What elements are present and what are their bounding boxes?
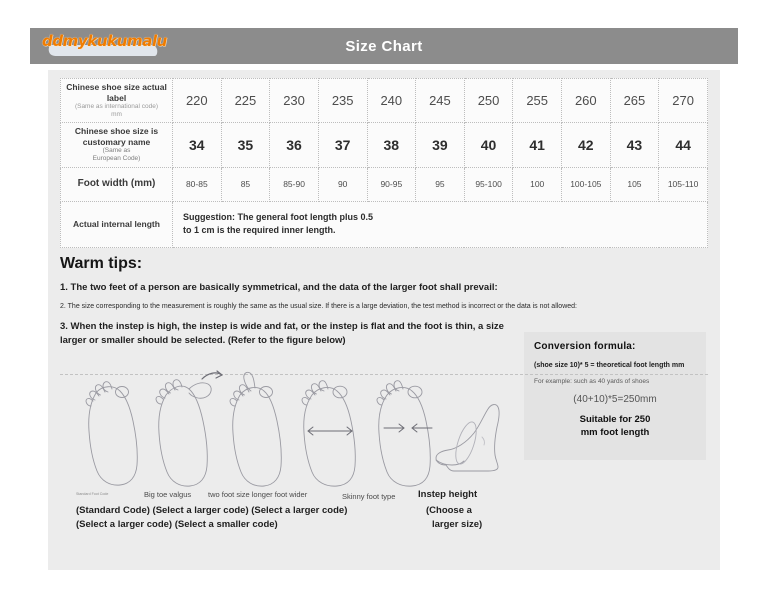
table-cell: 255 — [513, 79, 562, 123]
page-header: ddmykukumalu Size Chart — [30, 28, 738, 64]
table-cell: 225 — [221, 79, 270, 123]
caption-instep-sub-2: larger size) — [432, 518, 482, 532]
table-cell: 245 — [416, 79, 465, 123]
table-cell: 260 — [562, 79, 611, 123]
table-cell: 220 — [173, 79, 222, 123]
table-cell: 39 — [416, 123, 465, 168]
tip-item-1: 1. The two feet of a person are basicall… — [60, 281, 708, 294]
row-label-internal-length: Actual internal length — [61, 201, 173, 247]
suggestion-line-1: Suggestion: The general foot length plus… — [183, 212, 373, 222]
table-cell: 240 — [367, 79, 416, 123]
formula-result-line-1: Suitable for 250 — [580, 414, 651, 425]
table-cell: 43 — [610, 123, 659, 168]
table-cell: 265 — [610, 79, 659, 123]
caption-codes-line-1: (Standard Code) (Select a larger code) (… — [76, 504, 347, 518]
size-chart-page: ddmykukumalu Size Chart Chinese shoe siz… — [0, 0, 768, 598]
table-row-european-code: Chinese shoe size is customary name (Sam… — [61, 123, 708, 168]
foot-outline-big-toe-valgus — [156, 371, 222, 486]
row-label-main: Chinese shoe size is customary name — [75, 126, 158, 147]
row-label-actual-size: Chinese shoe size actual label (Same as … — [61, 79, 173, 123]
formula-equation: (shoe size 10)* 5 = theoretical foot len… — [534, 362, 696, 369]
row-label-sub: (Same as — [65, 147, 168, 155]
formula-heading: Conversion formula: — [534, 340, 696, 354]
formula-result-line-2: mm foot length — [581, 427, 650, 438]
suggestion-line-2: to 1 cm is the required inner length. — [183, 225, 336, 235]
caption-standard-foot-code: Standard Foot Code — [76, 492, 108, 496]
table-cell: 41 — [513, 123, 562, 168]
table-cell: 34 — [173, 123, 222, 168]
brand-logo: ddmykukumalu — [38, 29, 168, 59]
table-cell: 90-95 — [367, 167, 416, 201]
table-cell: 230 — [270, 79, 319, 123]
table-cell: 40 — [464, 123, 513, 168]
tip-item-3: 3. When the instep is high, the instep i… — [60, 320, 515, 348]
foot-illustrations-svg — [84, 365, 504, 505]
caption-big-toe-valgus: Big toe valgus — [144, 490, 191, 499]
foot-side-view-instep — [436, 405, 499, 471]
row-label-main: Chinese shoe size actual label — [66, 82, 167, 103]
table-cell: 270 — [659, 79, 708, 123]
table-cell: 100 — [513, 167, 562, 201]
row-label-sub2: European Code) — [65, 155, 168, 163]
table-cell: 250 — [464, 79, 513, 123]
caption-instep-sub-1: (Choose a — [426, 504, 472, 518]
table-cell: 38 — [367, 123, 416, 168]
diagram-captions: Standard Foot Code Big toe valgus two fo… — [60, 490, 708, 560]
formula-result: Suitable for 250 mm foot length — [534, 413, 696, 440]
row-label-customary-name: Chinese shoe size is customary name (Sam… — [61, 123, 173, 168]
row-label-foot-width: Foot width (mm) — [61, 167, 173, 201]
content-panel: Chinese shoe size actual label (Same as … — [48, 70, 720, 570]
table-cell: 36 — [270, 123, 319, 168]
table-cell: 44 — [659, 123, 708, 168]
table-cell: 80-85 — [173, 167, 222, 201]
logo-text: ddmykukumalu — [42, 32, 167, 50]
conversion-formula-box: Conversion formula: (shoe size 10)* 5 = … — [524, 332, 706, 460]
caption-codes-line-2: (Select a larger code) (Select a smaller… — [76, 518, 278, 532]
table-cell: 235 — [318, 79, 367, 123]
table-row-foot-width: Foot width (mm) 80-85 85 85-90 90 90-95 … — [61, 167, 708, 201]
table-cell: 95-100 — [464, 167, 513, 201]
table-cell: 35 — [221, 123, 270, 168]
table-cell: 85 — [221, 167, 270, 201]
table-cell: 90 — [318, 167, 367, 201]
formula-calculation: (40+10)*5=250mm — [534, 394, 696, 405]
size-table-container: Chinese shoe size actual label (Same as … — [60, 78, 708, 248]
table-cell: 95 — [416, 167, 465, 201]
foot-diagram — [84, 365, 504, 505]
foot-outline-standard — [86, 382, 137, 485]
size-table: Chinese shoe size actual label (Same as … — [60, 78, 708, 248]
formula-example: For example: such as 40 yards of shoes — [534, 378, 696, 385]
foot-outline-second-toe-longer — [230, 372, 281, 486]
foot-outline-wide — [302, 381, 355, 486]
page-title: Size Chart — [345, 38, 422, 55]
caption-two-foot-longer: two foot size longer foot wider — [208, 490, 307, 499]
caption-skinny-foot: Skinny foot type — [342, 492, 395, 501]
table-cell: 105-110 — [659, 167, 708, 201]
table-cell: 85-90 — [270, 167, 319, 201]
table-row-actual-label: Chinese shoe size actual label (Same as … — [61, 79, 708, 123]
table-cell: 100-105 — [562, 167, 611, 201]
table-cell: 42 — [562, 123, 611, 168]
tip-item-2: 2. The size corresponding to the measure… — [60, 302, 700, 313]
row-label-unit: mm — [65, 111, 168, 119]
table-row-internal-length: Actual internal length Suggestion: The g… — [61, 201, 708, 247]
table-cell: 105 — [610, 167, 659, 201]
foot-outline-skinny — [377, 381, 432, 486]
table-cell: 37 — [318, 123, 367, 168]
suggestion-note: Suggestion: The general foot length plus… — [173, 201, 708, 247]
caption-instep-height: Instep height — [418, 488, 477, 502]
warm-tips-heading: Warm tips: — [60, 255, 708, 273]
row-label-sub: (Same as international code) — [65, 103, 168, 111]
